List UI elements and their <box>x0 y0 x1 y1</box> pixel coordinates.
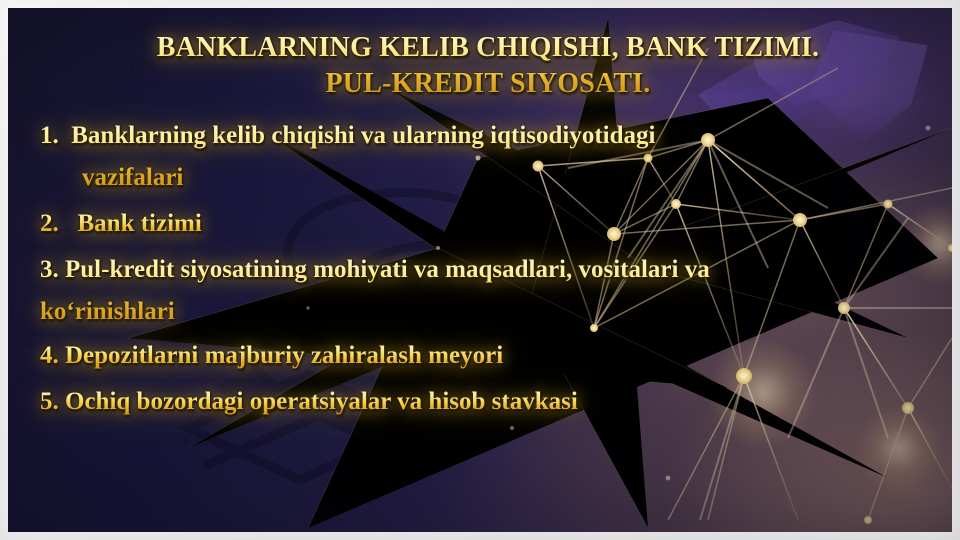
list-item-1-marker: 1. <box>40 122 59 149</box>
title-line-1: BANKLARNING KELIB CHIQISHI, BANK TIZIMI. <box>36 30 940 66</box>
list-item-4-text: Depozitlarni majburiy zahiralash meyori <box>65 342 503 369</box>
list-item-1: 1. Banklarning kelib chiqishi va ularnin… <box>40 120 948 194</box>
list-item-1-text: Banklarning kelib chiqishi va ularning i… <box>71 122 655 149</box>
list-item-3-marker: 3. <box>40 256 59 283</box>
slide-title: BANKLARNING KELIB CHIQISHI, BANK TIZIMI.… <box>36 30 940 102</box>
list-item-2-marker: 2. <box>40 210 59 237</box>
agenda-list: 1. Banklarning kelib chiqishi va ularnin… <box>40 120 948 426</box>
list-item-4-marker: 4. <box>40 342 59 369</box>
list-item-2: 2. Bank tizimi <box>40 208 948 240</box>
list-item-4: 4. Depozitlarni majburiy zahiralash meyo… <box>40 340 948 372</box>
slide-frame: BANKLARNING KELIB CHIQISHI, BANK TIZIMI.… <box>0 0 960 540</box>
slide-content: BANKLARNING KELIB CHIQISHI, BANK TIZIMI.… <box>8 8 952 532</box>
list-item-3-text: Pul-kredit siyosatining mohiyati va maqs… <box>65 256 710 283</box>
list-item-5: 5. Ochiq bozordagi operatsiyalar va hiso… <box>40 386 948 418</box>
list-item-5-marker: 5. <box>40 388 59 415</box>
title-line-2: PUL-KREDIT SIYOSATI. <box>36 66 940 102</box>
list-item-2-text: Bank tizimi <box>78 210 202 237</box>
list-item-3: 3. Pul-kredit siyosatining mohiyati va m… <box>40 254 948 328</box>
list-item-5-text: Ochiq bozordagi operatsiyalar va hisob s… <box>65 388 578 415</box>
slide-canvas: BANKLARNING KELIB CHIQISHI, BANK TIZIMI.… <box>8 8 952 532</box>
list-item-3-continuation: ko‘rinishlari <box>40 296 948 328</box>
list-item-1-continuation: vazifalari <box>40 162 948 194</box>
